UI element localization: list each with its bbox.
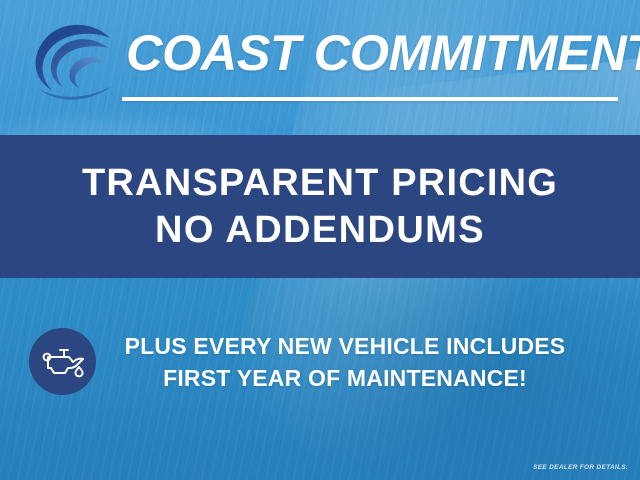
- maintenance-promo: PLUS EVERY NEW VEHICLE INCLUDES FIRST YE…: [0, 300, 640, 400]
- navy-band-line-1: TRANSPARENT PRICING: [82, 160, 558, 207]
- navy-band-line-2: NO ADDENDUMS: [155, 207, 485, 254]
- header-divider-rule: [122, 97, 618, 101]
- transparent-pricing-band: TRANSPARENT PRICING NO ADDENDUMS: [0, 135, 640, 278]
- page-title: COAST COMMITMENT: [126, 25, 623, 81]
- oil-can-icon: [29, 328, 96, 395]
- oil-can-glyph: [41, 345, 85, 379]
- promo-line-1: PLUS EVERY NEW VEHICLE INCLUDES: [110, 330, 580, 362]
- coast-wave-logo: [22, 18, 126, 104]
- promo-line-2: FIRST YEAR OF MAINTENANCE!: [110, 362, 580, 394]
- coast-commitment-banner: COAST COMMITMENT TRANSPARENT PRICING NO …: [0, 0, 640, 480]
- banner-header: COAST COMMITMENT: [0, 0, 640, 135]
- wave-logo-icon: [22, 18, 126, 104]
- disclaimer-text: SEE DEALER FOR DETAILS.: [533, 464, 628, 471]
- promo-text-block: PLUS EVERY NEW VEHICLE INCLUDES FIRST YE…: [110, 330, 580, 394]
